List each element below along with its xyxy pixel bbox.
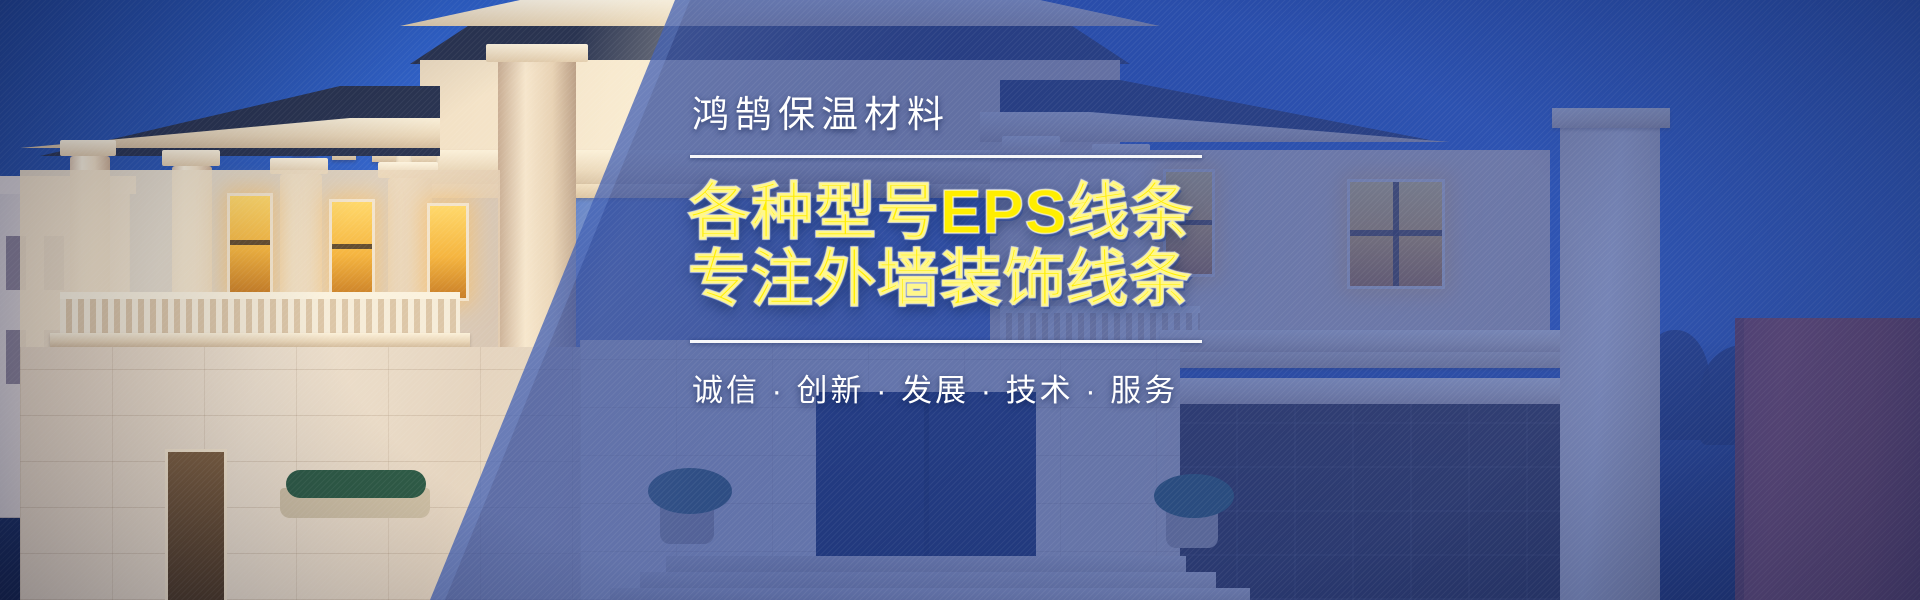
headline-line-1: 各种型号EPS线条 [688,180,1328,247]
tagline: 诚信 · 创新 · 发展 · 技术 · 服务 [688,365,1328,410]
divider-top [690,155,1202,158]
headline-group: 各种型号EPS线条 专注外墙装饰线条 [688,180,1328,314]
headline-line-2: 专注外墙装饰线条 [688,247,1328,314]
banner-text-block: 鸿鹄保温材料 各种型号EPS线条 专注外墙装饰线条 诚信 · 创新 · 发展 ·… [688,96,1328,410]
divider-bottom [690,340,1202,343]
brand-name: 鸿鹄保温材料 [688,96,1328,133]
hero-banner: 鸿鹄保温材料 各种型号EPS线条 专注外墙装饰线条 诚信 · 创新 · 发展 ·… [0,0,1920,600]
